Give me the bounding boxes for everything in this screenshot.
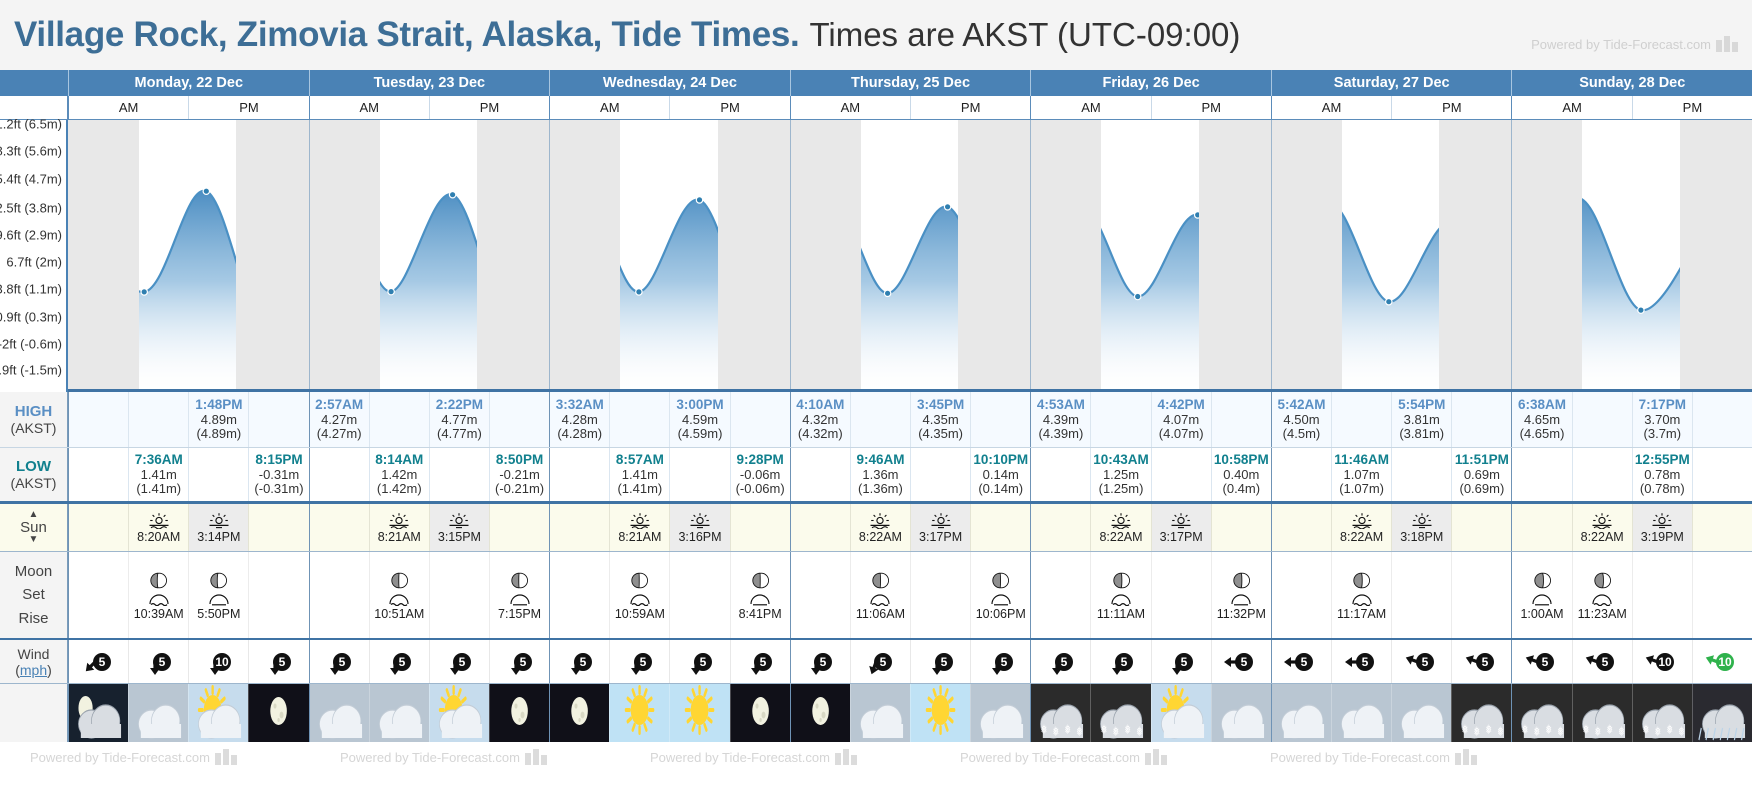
wind-cell[interactable]: 5 bbox=[489, 640, 549, 683]
weather-cell[interactable] bbox=[310, 684, 369, 742]
low-tide-empty bbox=[791, 448, 850, 501]
low-tide-entry[interactable]: 7:36AM1.41m(1.41m) bbox=[128, 448, 188, 501]
wind-cell[interactable]: 5 bbox=[609, 640, 669, 683]
high-tide-height: 4.50m bbox=[1283, 413, 1319, 428]
tide-extreme-point-9 bbox=[636, 289, 642, 295]
high-tide-height-alt: (4.07m) bbox=[1159, 427, 1204, 442]
high-tide-empty bbox=[248, 392, 308, 447]
ampm-day-5: AMPM bbox=[1271, 96, 1512, 119]
sunrise-icon bbox=[1109, 511, 1133, 529]
weather-cell[interactable] bbox=[1692, 684, 1752, 742]
moon-time: 7:15PM bbox=[498, 607, 541, 621]
svg-text:❅: ❅ bbox=[1558, 724, 1564, 740]
weather-cell[interactable] bbox=[1151, 684, 1211, 742]
sun-empty-cell bbox=[730, 504, 790, 551]
sunset-cell[interactable]: 3:16PM bbox=[669, 504, 729, 551]
low-tide-label: LOW (AKST) bbox=[0, 448, 68, 501]
low-tide-day-3: 9:46AM1.36m(1.36m)10:10PM0.14m(0.14m) bbox=[790, 448, 1031, 501]
y-axis-tick-5: 6.7ft (2m) bbox=[6, 255, 62, 270]
high-tide-height: 4.59m bbox=[682, 413, 718, 428]
moonset-icon bbox=[867, 592, 893, 606]
sun-time: 8:22AM bbox=[859, 530, 902, 544]
moon-cell[interactable]: 11:17AM bbox=[1331, 552, 1391, 638]
high-tide-entry[interactable]: 6:38AM4.65m(4.65m) bbox=[1512, 392, 1571, 447]
high-tide-height-alt: (4.35m) bbox=[918, 427, 963, 442]
partly-sunny-icon bbox=[430, 684, 489, 742]
low-tide-height: -0.31m bbox=[259, 468, 299, 483]
ampm-day-3: AMPM bbox=[790, 96, 1031, 119]
sun-time: 3:17PM bbox=[919, 530, 962, 544]
sun-time: 3:16PM bbox=[678, 530, 721, 544]
moon-cell[interactable]: 10:51AM bbox=[369, 552, 429, 638]
ampm-am-1: AM bbox=[310, 96, 429, 119]
y-axis-tick-4: 9.6ft (2.9m) bbox=[0, 227, 62, 242]
y-axis-tick-9: -4.9ft (-1.5m) bbox=[0, 362, 62, 377]
high-tide-height-alt: (4.28m) bbox=[557, 427, 602, 442]
high-tide-entry[interactable]: 7:17PM3.70m(3.7m) bbox=[1632, 392, 1692, 447]
wind-cell[interactable]: 5 bbox=[850, 640, 910, 683]
moon-phase-icon bbox=[1111, 570, 1132, 591]
wind-cell[interactable]: 10 bbox=[1692, 640, 1752, 683]
sun-label: ▲ Sun ▼ bbox=[0, 504, 68, 551]
moon-time: 11:23AM bbox=[1578, 607, 1627, 621]
high-tide-height-alt: (4.39m) bbox=[1038, 427, 1083, 442]
low-tide-empty bbox=[1391, 448, 1451, 501]
wind-cell[interactable]: 5 bbox=[791, 640, 850, 683]
wind-arrow-icon: 5 bbox=[382, 647, 416, 677]
weather-cell[interactable] bbox=[1391, 684, 1451, 742]
low-tide-height-alt: (1.42m) bbox=[377, 482, 422, 497]
footer-credit-text: Powered by Tide-Forecast.com bbox=[1270, 750, 1450, 765]
moon-time: 8:41PM bbox=[739, 607, 782, 621]
sunset-icon bbox=[207, 511, 231, 529]
high-tide-empty bbox=[1211, 392, 1271, 447]
sunset-icon bbox=[1650, 511, 1674, 529]
footer-credit-0: Powered by Tide-Forecast.com bbox=[30, 749, 237, 765]
wind-cell[interactable]: 5 bbox=[429, 640, 489, 683]
sun-empty-cell bbox=[1451, 504, 1511, 551]
svg-text:❅: ❅ bbox=[1486, 722, 1492, 738]
footer-credit-1: Powered by Tide-Forecast.com bbox=[340, 749, 547, 765]
low-tide-entry[interactable]: 11:51PM0.69m(0.69m) bbox=[1451, 448, 1511, 501]
high-tide-height: 4.28m bbox=[562, 413, 598, 428]
high-tide-empty bbox=[1090, 392, 1150, 447]
wind-cell[interactable]: 5 bbox=[369, 640, 429, 683]
cloudy-icon bbox=[370, 684, 429, 742]
weather-day-3 bbox=[790, 684, 1031, 742]
high-tide-entry[interactable]: 3:45PM4.35m(4.35m) bbox=[910, 392, 970, 447]
wind-arrow-icon: 5 bbox=[1164, 647, 1198, 677]
sun-time: 3:15PM bbox=[438, 530, 481, 544]
sunrise-cell[interactable]: 8:22AM bbox=[850, 504, 910, 551]
tide-chart-plot[interactable] bbox=[68, 120, 1752, 392]
weather-cell[interactable] bbox=[609, 684, 669, 742]
moon-cell[interactable]: 7:15PM bbox=[489, 552, 549, 638]
weather-cell[interactable] bbox=[248, 684, 308, 742]
high-tide-entry[interactable]: 4:53AM4.39m(4.39m) bbox=[1031, 392, 1090, 447]
sun-empty-cell bbox=[1512, 504, 1571, 551]
sun-time: 3:18PM bbox=[1400, 530, 1443, 544]
weather-cell[interactable]: ❅❅❅❅ bbox=[1572, 684, 1632, 742]
wind-arrow-icon: 5 bbox=[1044, 647, 1078, 677]
wind-speed-value: 5 bbox=[1241, 655, 1248, 669]
sunset-cell[interactable]: 3:17PM bbox=[1151, 504, 1211, 551]
wind-arrow-icon: 5 bbox=[743, 647, 777, 677]
footer-credit-text: Powered by Tide-Forecast.com bbox=[960, 750, 1140, 765]
wind-day-6: 551010 bbox=[1511, 640, 1752, 683]
day-header-5[interactable]: Saturday, 27 Dec bbox=[1271, 70, 1512, 96]
wind-cell[interactable]: 5 bbox=[69, 640, 128, 683]
moon-empty-cell bbox=[910, 552, 970, 638]
low-tide-entry[interactable]: 10:43AM1.25m(1.25m) bbox=[1090, 448, 1150, 501]
sunrise-cell[interactable]: 8:21AM bbox=[609, 504, 669, 551]
weather-cell[interactable]: ❅❅❅❅ bbox=[1090, 684, 1150, 742]
high-tide-day-2: 3:32AM4.28m(4.28m)3:00PM4.59m(4.59m) bbox=[549, 392, 790, 447]
weather-day-1 bbox=[309, 684, 550, 742]
wind-cell[interactable]: 5 bbox=[1451, 640, 1511, 683]
moon-time: 10:39AM bbox=[134, 607, 184, 621]
sun-empty-cell bbox=[970, 504, 1030, 551]
high-tide-entry[interactable]: 4:42PM4.07m(4.07m) bbox=[1151, 392, 1211, 447]
weather-cell[interactable] bbox=[128, 684, 188, 742]
low-tide-day-6: 12:55PM0.78m(0.78m) bbox=[1511, 448, 1752, 501]
low-tide-height-alt: (1.25m) bbox=[1099, 482, 1144, 497]
moon-empty-cell bbox=[1272, 552, 1331, 638]
wind-cell[interactable]: 5 bbox=[1211, 640, 1271, 683]
wind-arrow-icon: 5 bbox=[262, 647, 296, 677]
sunset-cell[interactable]: 3:15PM bbox=[429, 504, 489, 551]
tide-extreme-point-21 bbox=[1386, 299, 1392, 305]
weather-day-0 bbox=[68, 684, 309, 742]
high-tide-height: 4.77m bbox=[441, 413, 477, 428]
weather-cell[interactable] bbox=[669, 684, 729, 742]
moon-cell[interactable]: 11:06AM bbox=[850, 552, 910, 638]
day-header-2[interactable]: Wednesday, 24 Dec bbox=[549, 70, 790, 96]
wind-unit-text[interactable]: mph bbox=[20, 662, 47, 678]
sun-empty-cell bbox=[791, 504, 850, 551]
wind-speed-value: 5 bbox=[1000, 655, 1007, 669]
moon-time: 5:50PM bbox=[197, 607, 240, 621]
sunset-cell[interactable]: 3:17PM bbox=[910, 504, 970, 551]
high-tide-entry[interactable]: 3:32AM4.28m(4.28m) bbox=[550, 392, 609, 447]
sun-empty-cell bbox=[550, 504, 609, 551]
low-tide-time: 8:50PM bbox=[496, 452, 543, 467]
wind-cell[interactable]: 5 bbox=[1391, 640, 1451, 683]
sunny-icon bbox=[911, 684, 970, 742]
low-tide-entry[interactable]: 11:46AM1.07m(1.07m) bbox=[1331, 448, 1391, 501]
ampm-day-2: AMPM bbox=[549, 96, 790, 119]
weather-cell[interactable] bbox=[188, 684, 248, 742]
high-tide-entry[interactable]: 2:57AM4.27m(4.27m) bbox=[310, 392, 369, 447]
cloudy-icon bbox=[851, 684, 910, 742]
low-tide-height: 1.42m bbox=[381, 468, 417, 483]
tide-extreme-point-14 bbox=[944, 204, 950, 210]
weather-day-5: ❅❅❅❅ bbox=[1271, 684, 1512, 742]
high-tide-day-5: 5:42AM4.50m(4.5m)5:54PM3.81m(3.81m) bbox=[1271, 392, 1512, 447]
ampm-pm-1: PM bbox=[429, 96, 549, 119]
weather-cell[interactable] bbox=[429, 684, 489, 742]
wind-cell[interactable]: 5 bbox=[1272, 640, 1331, 683]
wind-arrow-icon: 10 bbox=[202, 647, 236, 677]
weather-cell[interactable] bbox=[730, 684, 790, 742]
high-tide-entry[interactable]: 4:10AM4.32m(4.32m) bbox=[791, 392, 850, 447]
wind-speed-value: 5 bbox=[98, 655, 105, 669]
wind-cell[interactable]: 5 bbox=[730, 640, 790, 683]
wind-cell[interactable]: 5 bbox=[128, 640, 188, 683]
sunrise-cell[interactable]: 8:21AM bbox=[369, 504, 429, 551]
moon-day-6: 1:00AM11:23AM bbox=[1511, 552, 1752, 638]
clear-night-icon bbox=[550, 684, 609, 742]
moon-time: 10:06PM bbox=[976, 607, 1026, 621]
moon-phase-icon bbox=[1351, 570, 1372, 591]
sun-day-5: 8:22AM3:18PM bbox=[1271, 504, 1512, 551]
moonset-icon bbox=[146, 592, 172, 606]
moon-empty-cell bbox=[1451, 552, 1511, 638]
wind-speed-value: 5 bbox=[279, 655, 286, 669]
weather-cell[interactable] bbox=[1331, 684, 1391, 742]
moon-empty-cell bbox=[69, 552, 128, 638]
sunrise-cell[interactable]: 8:22AM bbox=[1090, 504, 1150, 551]
weather-cell[interactable] bbox=[1211, 684, 1271, 742]
high-tide-entry[interactable]: 2:22PM4.77m(4.77m) bbox=[429, 392, 489, 447]
moon-phase-icon bbox=[870, 570, 891, 591]
weather-cell[interactable] bbox=[489, 684, 549, 742]
moon-label: Moon Set Rise bbox=[0, 552, 68, 638]
svg-text:❅: ❅ bbox=[1522, 722, 1528, 738]
wind-speed-value: 5 bbox=[1121, 655, 1128, 669]
high-tide-entry[interactable]: 3:00PM4.59m(4.59m) bbox=[669, 392, 729, 447]
logo-bars-icon bbox=[525, 749, 547, 765]
sunset-cell[interactable]: 3:19PM bbox=[1632, 504, 1692, 551]
moon-empty-cell bbox=[1632, 552, 1692, 638]
wind-cell[interactable]: 5 bbox=[1512, 640, 1571, 683]
high-tide-entry[interactable]: 5:54PM3.81m(3.81m) bbox=[1391, 392, 1451, 447]
day-separator-4 bbox=[1030, 120, 1031, 389]
weather-cell[interactable]: ❅❅❅❅ bbox=[1451, 684, 1511, 742]
low-tide-height-alt: (0.4m) bbox=[1223, 482, 1261, 497]
footer-credit-2: Powered by Tide-Forecast.com bbox=[650, 749, 857, 765]
cloudy-icon bbox=[1272, 684, 1331, 742]
ampm-day-0: AMPM bbox=[68, 96, 309, 119]
weather-cell[interactable] bbox=[850, 684, 910, 742]
sun-time: 3:17PM bbox=[1160, 530, 1203, 544]
tide-extreme-point-17 bbox=[1135, 293, 1141, 299]
wind-speed-value: 5 bbox=[1421, 655, 1428, 669]
sunny-icon bbox=[670, 684, 729, 742]
wind-cell[interactable]: 5 bbox=[1090, 640, 1150, 683]
low-tide-height-alt: (1.41m) bbox=[136, 482, 181, 497]
high-tide-height: 4.39m bbox=[1043, 413, 1079, 428]
moon-cell[interactable]: 11:23AM bbox=[1572, 552, 1632, 638]
sunset-icon bbox=[688, 511, 712, 529]
moonrise-icon bbox=[1529, 592, 1555, 606]
wind-cell[interactable]: 5 bbox=[669, 640, 729, 683]
wind-speed-value: 5 bbox=[579, 655, 586, 669]
sun-time: 8:22AM bbox=[1099, 530, 1142, 544]
wind-cell[interactable]: 5 bbox=[910, 640, 970, 683]
wind-cell[interactable]: 10 bbox=[1632, 640, 1692, 683]
sun-day-1: 8:21AM3:15PM bbox=[309, 504, 550, 551]
low-tide-height: 1.41m bbox=[622, 468, 658, 483]
night-band-6-0 bbox=[1511, 120, 1582, 389]
low-tide-empty bbox=[429, 448, 489, 501]
weather-day-6: ❅❅❅❅❅❅❅❅❅❅❅❅ bbox=[1511, 684, 1752, 742]
sunrise-cell[interactable]: 8:22AM bbox=[1331, 504, 1391, 551]
high-tide-height-alt: (4.32m) bbox=[798, 427, 843, 442]
low-tide-entry[interactable]: 10:58PM0.40m(0.4m) bbox=[1211, 448, 1271, 501]
sun-empty-cell bbox=[1692, 504, 1752, 551]
moon-cell[interactable]: 11:11AM bbox=[1090, 552, 1150, 638]
day-header-4[interactable]: Friday, 26 Dec bbox=[1030, 70, 1271, 96]
low-tide-height-alt: (1.41m) bbox=[617, 482, 662, 497]
night-band-0-1 bbox=[236, 120, 308, 389]
sun-time: 8:22AM bbox=[1340, 530, 1383, 544]
wind-row: Wind (mph) 55105555555555555555555555510… bbox=[0, 640, 1752, 684]
cloudy-icon bbox=[1332, 684, 1391, 742]
moon-phase-icon bbox=[629, 570, 650, 591]
tide-extreme-point-10 bbox=[696, 197, 702, 203]
moon-cell[interactable]: 10:39AM bbox=[128, 552, 188, 638]
low-tide-empty bbox=[1151, 448, 1211, 501]
high-tide-entry[interactable]: 1:48PM4.89m(4.89m) bbox=[188, 392, 248, 447]
high-tide-day-1: 2:57AM4.27m(4.27m)2:22PM4.77m(4.77m) bbox=[309, 392, 550, 447]
low-tide-entry[interactable]: 8:50PM-0.21m(-0.21m) bbox=[489, 448, 549, 501]
svg-text:❅: ❅ bbox=[1654, 724, 1660, 740]
weather-cell[interactable] bbox=[550, 684, 609, 742]
high-tide-label: HIGH (AKST) bbox=[0, 392, 68, 447]
wind-cell[interactable]: 5 bbox=[1331, 640, 1391, 683]
weather-cell[interactable]: ❅❅❅❅ bbox=[1031, 684, 1090, 742]
weather-cell[interactable]: ❅❅❅❅ bbox=[1632, 684, 1692, 742]
wind-day-0: 55105 bbox=[68, 640, 309, 683]
low-tide-tz: (AKST) bbox=[11, 475, 57, 491]
weather-icon-row: ❅❅❅❅❅❅❅❅❅❅❅❅❅❅❅❅❅❅❅❅❅❅❅❅ bbox=[0, 684, 1752, 742]
wind-arrow-icon: 5 bbox=[82, 647, 116, 677]
wind-day-1: 5555 bbox=[309, 640, 550, 683]
high-tide-empty bbox=[1451, 392, 1511, 447]
header-credit: Powered by Tide-Forecast.com bbox=[1531, 36, 1738, 52]
wind-unit-link[interactable]: (mph) bbox=[15, 662, 52, 678]
wind-speed-value: 10 bbox=[215, 655, 229, 669]
low-tide-height-alt: (-0.06m) bbox=[736, 482, 785, 497]
high-tide-height: 4.65m bbox=[1524, 413, 1560, 428]
sun-day-0: 8:20AM3:14PM bbox=[68, 504, 309, 551]
low-tide-time: 9:46AM bbox=[856, 452, 904, 467]
low-tide-entry[interactable]: 8:15PM-0.31m(-0.31m) bbox=[248, 448, 308, 501]
footer-credit-4: Powered by Tide-Forecast.com bbox=[1270, 749, 1477, 765]
moon-cell[interactable]: 10:59AM bbox=[609, 552, 669, 638]
day-header-0[interactable]: Monday, 22 Dec bbox=[68, 70, 309, 96]
low-tide-entry[interactable]: 9:28PM-0.06m(-0.06m) bbox=[730, 448, 790, 501]
sunset-cell[interactable]: 3:14PM bbox=[188, 504, 248, 551]
wind-cell[interactable]: 10 bbox=[188, 640, 248, 683]
weather-cell[interactable] bbox=[69, 684, 128, 742]
weather-cell[interactable] bbox=[791, 684, 850, 742]
wind-day-5: 5555 bbox=[1271, 640, 1512, 683]
low-tide-entry[interactable]: 10:10PM0.14m(0.14m) bbox=[970, 448, 1030, 501]
day-header-1[interactable]: Tuesday, 23 Dec bbox=[309, 70, 550, 96]
low-tide-empty bbox=[550, 448, 609, 501]
moon-day-4: 11:11AM11:32PM bbox=[1030, 552, 1271, 638]
moon-empty-cell bbox=[1391, 552, 1451, 638]
wind-cell[interactable]: 5 bbox=[970, 640, 1030, 683]
weather-cell[interactable] bbox=[910, 684, 970, 742]
moon-day-2: 10:59AM8:41PM bbox=[549, 552, 790, 638]
moon-empty-cell bbox=[248, 552, 308, 638]
low-tide-day-5: 11:46AM1.07m(1.07m)11:51PM0.69m(0.69m) bbox=[1271, 448, 1512, 501]
weather-cell[interactable] bbox=[369, 684, 429, 742]
moon-cell[interactable]: 1:00AM bbox=[1512, 552, 1571, 638]
high-tide-empty bbox=[730, 392, 790, 447]
svg-text:❅: ❅ bbox=[1065, 722, 1071, 738]
tide-extreme-point-13 bbox=[884, 290, 890, 296]
low-tide-height: 1.41m bbox=[141, 468, 177, 483]
low-tide-entry[interactable]: 8:57AM1.41m(1.41m) bbox=[609, 448, 669, 501]
sun-day-2: 8:21AM3:16PM bbox=[549, 504, 790, 551]
high-tide-height-alt: (3.81m) bbox=[1399, 427, 1444, 442]
night-band-4-0 bbox=[1030, 120, 1101, 389]
low-tide-entry[interactable]: 8:14AM1.42m(1.42m) bbox=[369, 448, 429, 501]
wind-cell[interactable]: 5 bbox=[550, 640, 609, 683]
moon-cell[interactable]: 5:50PM bbox=[188, 552, 248, 638]
sunset-cell[interactable]: 3:18PM bbox=[1391, 504, 1451, 551]
wind-label: Wind (mph) bbox=[0, 640, 68, 683]
moon-cell[interactable]: 10:06PM bbox=[970, 552, 1030, 638]
day-separator-6 bbox=[1511, 120, 1512, 389]
weather-cell[interactable] bbox=[970, 684, 1030, 742]
night-band-0-0 bbox=[68, 120, 139, 389]
low-tide-time: 8:14AM bbox=[375, 452, 423, 467]
wind-cell[interactable]: 5 bbox=[1572, 640, 1632, 683]
high-tide-empty bbox=[489, 392, 549, 447]
wind-cell[interactable]: 5 bbox=[248, 640, 308, 683]
sunrise-cell[interactable]: 8:22AM bbox=[1572, 504, 1632, 551]
y-axis-tick-1: 18.3ft (5.6m) bbox=[0, 143, 62, 158]
high-tide-time: 2:22PM bbox=[436, 397, 483, 412]
clear-night-icon bbox=[490, 684, 549, 742]
moon-phase-icon bbox=[389, 570, 410, 591]
wind-cell[interactable]: 5 bbox=[1151, 640, 1211, 683]
moon-day-5: 11:17AM bbox=[1271, 552, 1512, 638]
weather-cell[interactable] bbox=[1272, 684, 1331, 742]
wind-arrow-icon: 5 bbox=[1405, 647, 1439, 677]
high-tide-height-alt: (4.27m) bbox=[317, 427, 362, 442]
ampm-am-0: AM bbox=[69, 96, 188, 119]
sunrise-cell[interactable]: 8:20AM bbox=[128, 504, 188, 551]
moon-cell[interactable]: 11:32PM bbox=[1211, 552, 1271, 638]
high-tide-height: 4.32m bbox=[802, 413, 838, 428]
ampm-day-4: AMPM bbox=[1030, 96, 1271, 119]
low-tide-entry[interactable]: 12:55PM0.78m(0.78m) bbox=[1632, 448, 1692, 501]
day-header-6[interactable]: Sunday, 28 Dec bbox=[1511, 70, 1752, 96]
header-credit-text: Powered by Tide-Forecast.com bbox=[1531, 37, 1711, 52]
moon-cell[interactable]: 8:41PM bbox=[730, 552, 790, 638]
high-tide-entry[interactable]: 5:42AM4.50m(4.5m) bbox=[1272, 392, 1331, 447]
svg-text:❅: ❅ bbox=[1113, 724, 1119, 740]
day-separator-5 bbox=[1271, 120, 1272, 389]
high-tide-empty bbox=[1572, 392, 1632, 447]
sunset-icon bbox=[929, 511, 953, 529]
night-band-2-1 bbox=[718, 120, 790, 389]
day-header-3[interactable]: Thursday, 25 Dec bbox=[790, 70, 1031, 96]
svg-text:❅: ❅ bbox=[1606, 722, 1612, 738]
low-tide-row: LOW (AKST) 7:36AM1.41m(1.41m)8:15PM-0.31… bbox=[0, 448, 1752, 504]
svg-text:❅: ❅ bbox=[1077, 724, 1083, 740]
wind-cell[interactable]: 5 bbox=[1031, 640, 1090, 683]
weather-cell[interactable]: ❅❅❅❅ bbox=[1512, 684, 1571, 742]
wind-cell[interactable]: 5 bbox=[310, 640, 369, 683]
low-tide-entry[interactable]: 9:46AM1.36m(1.36m) bbox=[850, 448, 910, 501]
